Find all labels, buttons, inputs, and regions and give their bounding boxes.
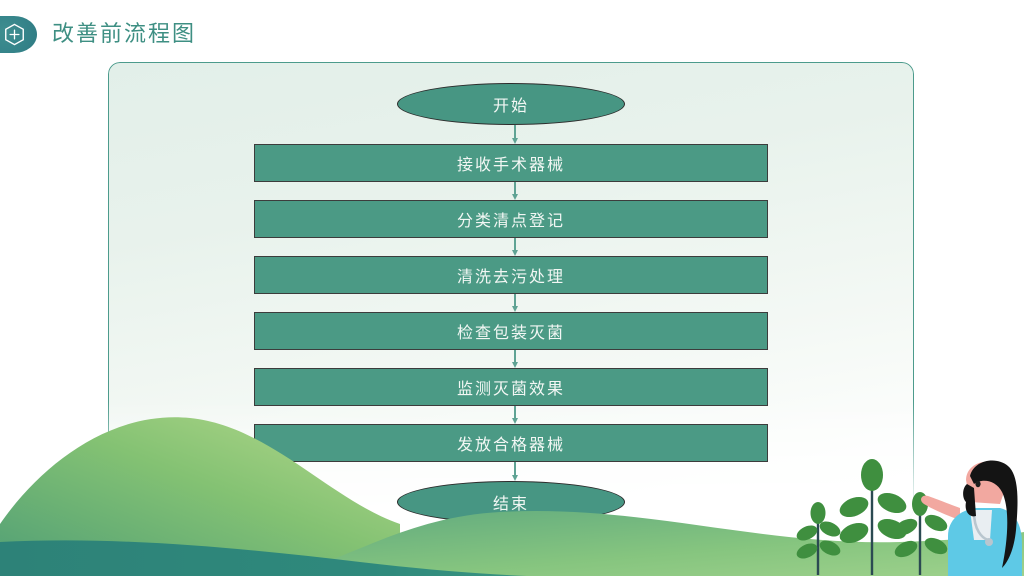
person-illustration — [904, 458, 1024, 576]
flow-arrow-6 — [510, 406, 520, 424]
flow-arrow-3 — [510, 238, 520, 256]
hill-left-dark — [0, 540, 620, 576]
flow-arrow-1 — [510, 125, 520, 144]
flow-node-start[interactable]: 开始 — [397, 83, 625, 125]
flow-arrow-7 — [510, 462, 520, 481]
flow-node-step4[interactable]: 检查包装灭菌 — [254, 312, 768, 350]
flow-node-step5[interactable]: 监测灭菌效果 — [254, 368, 768, 406]
hexagon-plus-icon — [0, 16, 37, 53]
page-title: 改善前流程图 — [52, 23, 196, 45]
flow-node-step6[interactable]: 发放合格器械 — [254, 424, 768, 462]
person-coat — [948, 508, 1022, 576]
slide-header: 改善前流程图 — [0, 12, 196, 56]
person-eye — [975, 481, 980, 487]
flow-arrow-2 — [510, 182, 520, 200]
flow-node-step3[interactable]: 清洗去污处理 — [254, 256, 768, 294]
flow-node-step2[interactable]: 分类清点登记 — [254, 200, 768, 238]
person-face — [966, 462, 1006, 504]
person-hair — [970, 461, 1018, 568]
flowchart: 开始 接收手术器械 分类清点登记 清洗去污处理 检查包装灭菌 监测灭菌效果 发放… — [108, 62, 914, 532]
hexagon-plus-glyph — [4, 23, 25, 46]
person-shirt — [970, 510, 992, 540]
slide-root: 改善前流程图 开始 接收手术器械 分类清点登记 清洗去污处理 检查包装灭菌 监测… — [0, 0, 1024, 576]
person-arm-skin — [921, 496, 960, 520]
flow-node-step1[interactable]: 接收手术器械 — [254, 144, 768, 182]
stethoscope-bell — [985, 538, 993, 546]
stethoscope-icon — [974, 512, 988, 540]
flow-arrow-5 — [510, 350, 520, 368]
flow-node-end[interactable]: 结束 — [397, 481, 625, 523]
person-hair-front — [963, 484, 976, 516]
flow-arrow-4 — [510, 294, 520, 312]
